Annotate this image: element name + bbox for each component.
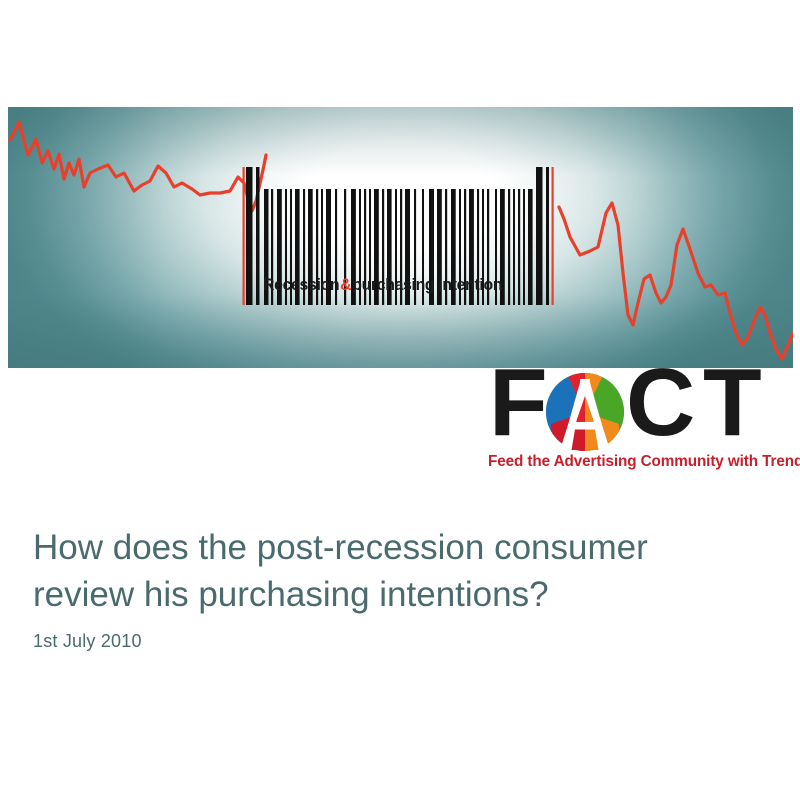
fact-logo-wordmark: F — [487, 366, 797, 452]
slide-date: 1st July 2010 — [33, 629, 142, 653]
fact-logo-letter-c: C — [626, 360, 693, 446]
barcode-caption-ampersand: & — [339, 277, 352, 294]
fact-logo-letter-t: T — [703, 360, 760, 446]
barcode-graphic — [8, 107, 793, 368]
banner-image: Recession & purchasing intention — [8, 107, 793, 368]
fact-logo-letter-f: F — [489, 360, 546, 446]
fact-logo-tagline: Feed the Advertising Community with Tren… — [488, 452, 800, 472]
page-title-line-2: review his purchasing intentions? — [33, 571, 763, 618]
fact-logo-letter-a-icon — [545, 372, 625, 452]
barcode-caption-suffix: purchasing intention — [352, 277, 502, 294]
slide-canvas: Recession & purchasing intention F — [0, 0, 800, 800]
page-title: How does the post-recession consumer rev… — [33, 524, 763, 618]
barcode-caption-prefix: Recession — [263, 277, 339, 294]
page-title-line-1: How does the post-recession consumer — [33, 524, 763, 571]
fact-logo: F — [487, 366, 797, 478]
barcode-caption: Recession & purchasing intention — [263, 274, 539, 296]
